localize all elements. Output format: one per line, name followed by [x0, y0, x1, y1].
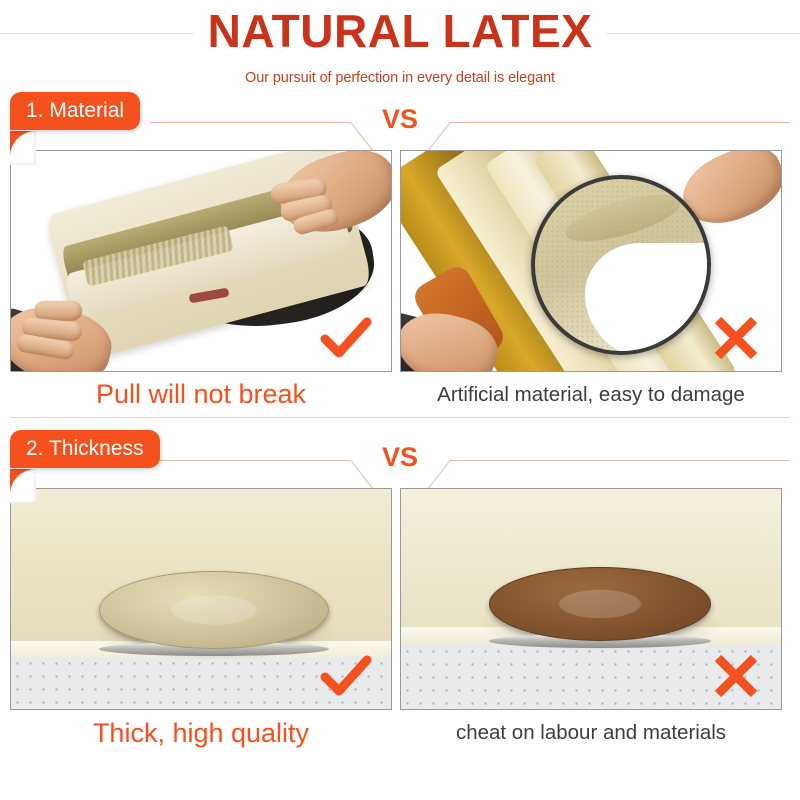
section-thickness: VS 2. Thickness [0, 430, 800, 756]
caption-good-1: Pull will not break [10, 379, 392, 410]
caption-good-2: Thick, high quality [10, 718, 392, 749]
cross-icon [707, 651, 765, 701]
coin-face-2 [489, 567, 711, 641]
magnifier-tear-void [585, 243, 711, 355]
caption-bad-1: Artificial material, easy to damage [400, 383, 782, 407]
photo-row-2 [0, 488, 800, 710]
title-rule-left [0, 33, 194, 34]
section-1-header: VS 1. Material [0, 92, 800, 150]
page-subtitle: Our pursuit of perfection in every detai… [0, 70, 800, 86]
coin-silver [99, 571, 329, 649]
title-row: NATURAL LATEX [0, 0, 800, 62]
caption-bad-2: cheat on labour and materials [400, 721, 782, 745]
magnifier-circle [531, 175, 711, 355]
coin-face [99, 571, 329, 649]
cross-icon [707, 313, 765, 363]
photo-thin-latex [400, 488, 782, 710]
caption-row-1: Pull will not break Artificial material,… [10, 372, 790, 418]
photo-synthetic-torn [400, 150, 782, 372]
page-header: NATURAL LATEX Our pursuit of perfection … [0, 0, 800, 92]
photo-latex-pull [10, 150, 392, 372]
caption-row-2: Thick, high quality cheat on labour and … [10, 710, 790, 756]
section-badge-material: 1. Material [10, 92, 140, 130]
coin-engraving [136, 583, 291, 638]
coin-engraving-2 [525, 578, 675, 630]
photo-row-1 [0, 150, 800, 372]
badge-tail-1 [10, 131, 36, 165]
check-icon [317, 651, 375, 701]
check-icon [317, 313, 375, 363]
section-2-header: VS 2. Thickness [0, 430, 800, 488]
title-rule-right [606, 33, 800, 34]
section-material: VS 1. Material [0, 92, 800, 418]
badge-tail-2 [10, 469, 36, 503]
coin-brown [489, 567, 711, 641]
section-badge-thickness: 2. Thickness [10, 430, 160, 468]
photo-thick-latex [10, 488, 392, 710]
page-title: NATURAL LATEX [208, 8, 593, 54]
